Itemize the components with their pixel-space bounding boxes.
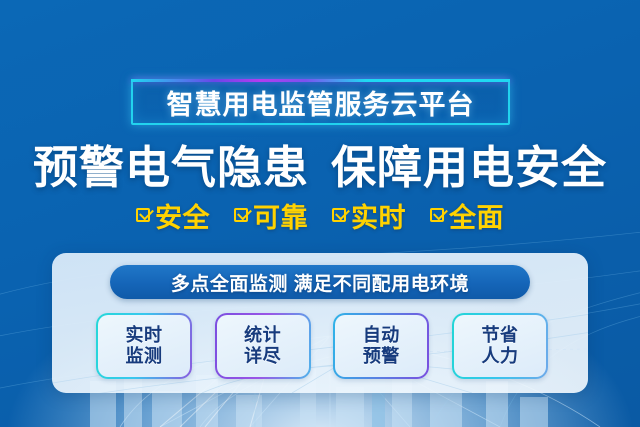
checklist-label: 实时: [351, 196, 406, 235]
panel-banner: 多点全面监测 满足不同配用电环境: [110, 265, 530, 299]
feature-panel: 多点全面监测 满足不同配用电环境 实时 监测 统计 详尽 自动 预警 节省 人力: [52, 253, 588, 393]
feature-card-save-manpower[interactable]: 节省 人力: [452, 313, 548, 379]
subtitle-text: 智慧用电监管服务云平台: [133, 81, 508, 123]
card-line-2: 预警: [363, 346, 400, 367]
promo-poster: 智慧用电监管服务云平台 预警电气隐患 保障用电安全 安全 可靠 实时 全面: [0, 0, 640, 427]
panel-banner-text: 多点全面监测 满足不同配用电环境: [171, 269, 469, 296]
feature-card-list: 实时 监测 统计 详尽 自动 预警 节省 人力: [96, 311, 548, 381]
checklist-item-reliable: 可靠: [234, 196, 308, 235]
checklist-label: 安全: [155, 196, 210, 235]
checklist-label: 全面: [449, 196, 504, 235]
card-line-2: 人力: [481, 346, 518, 367]
checklist-item-realtime: 实时: [332, 196, 406, 235]
feature-card-realtime-monitoring[interactable]: 实时 监测: [96, 313, 192, 379]
feature-checklist: 安全 可靠 实时 全面: [0, 199, 640, 231]
checklist-label: 可靠: [253, 196, 308, 235]
card-line-1: 节省: [481, 325, 518, 346]
page-title: 预警电气隐患 保障用电安全: [0, 134, 640, 192]
checkbox-checked-icon: [430, 208, 444, 222]
feature-card-detailed-statistics[interactable]: 统计 详尽: [215, 313, 311, 379]
card-line-1: 实时: [126, 325, 163, 346]
card-line-1: 统计: [244, 325, 281, 346]
checkbox-checked-icon: [332, 208, 346, 222]
checkbox-checked-icon: [234, 208, 248, 222]
headline-part-2: 保障用电安全: [331, 131, 607, 196]
card-line-1: 自动: [363, 325, 400, 346]
card-line-2: 详尽: [244, 346, 281, 367]
feature-card-auto-alarm[interactable]: 自动 预警: [333, 313, 429, 379]
checkbox-checked-icon: [136, 208, 150, 222]
checklist-item-comprehensive: 全面: [430, 196, 504, 235]
headline-part-1: 预警电气隐患: [33, 131, 309, 196]
checklist-item-safe: 安全: [136, 196, 210, 235]
subtitle-frame: 智慧用电监管服务云平台: [131, 79, 510, 125]
card-line-2: 监测: [126, 346, 163, 367]
